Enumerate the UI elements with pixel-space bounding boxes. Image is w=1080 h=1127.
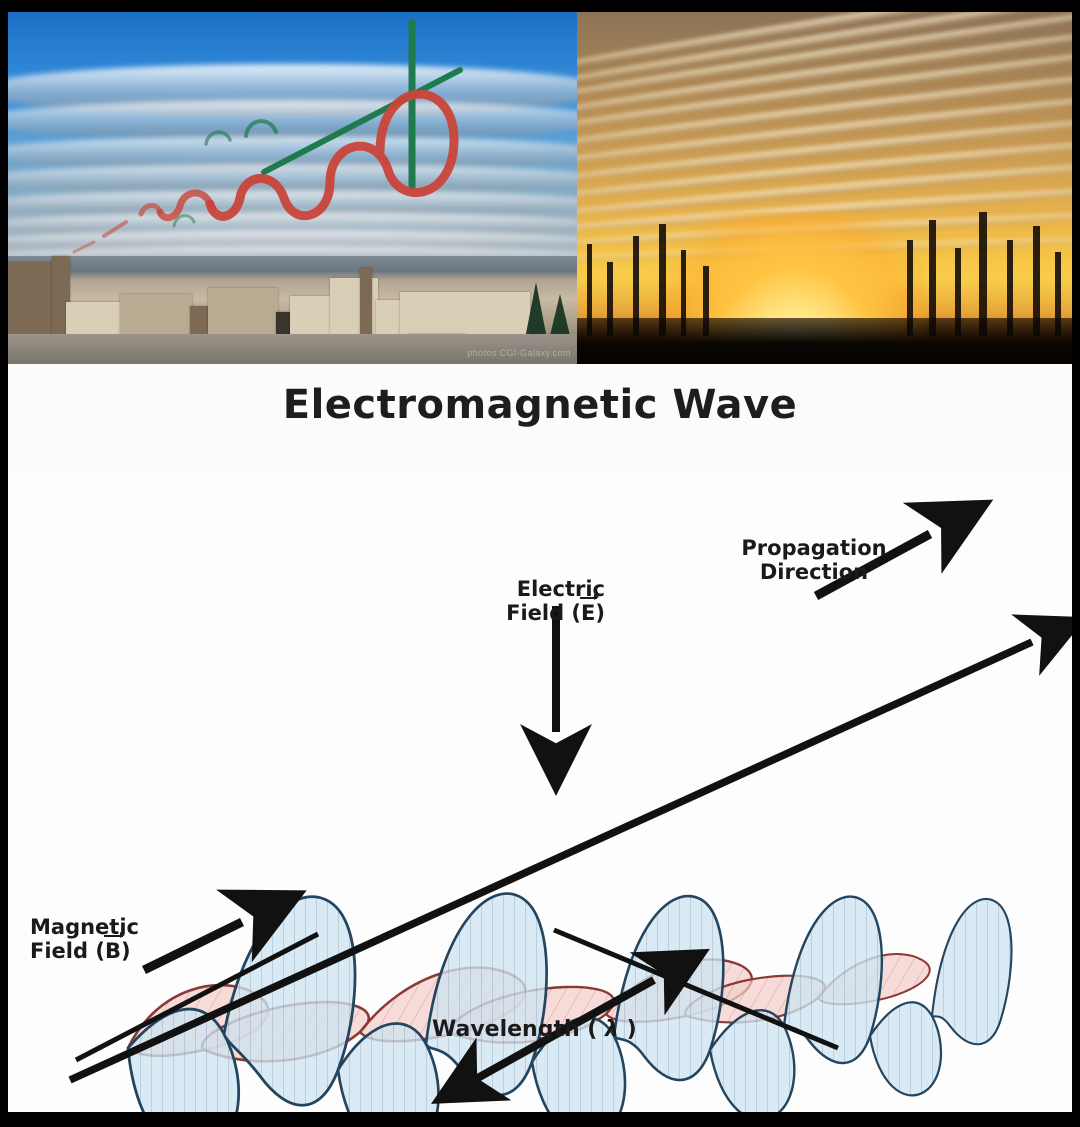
bare-tree [1033,226,1040,336]
building [360,268,372,336]
electric-field-label: Electric Field (E) [455,578,605,625]
building [400,292,530,336]
electric-field-label-line2-suffix: ) [595,601,605,625]
bare-tree [955,248,961,336]
screenshot-root: photos CGI-Galaxy.com [0,0,1080,1127]
magnetic-field-label: Magnetic Field (B) [30,916,190,963]
bare-tree [1055,252,1061,336]
sunset-striated-clouds-photo [577,12,1072,364]
bare-tree [607,262,613,336]
electric-field-label-line2-prefix: Field ( [506,601,581,625]
propagation-direction-label: Propagation Direction [724,537,904,584]
propagation-label-line1: Propagation [741,536,886,560]
bare-tree [633,236,639,336]
magnetic-field-label-line2-suffix: ) [121,939,131,963]
bare-tree [703,266,709,336]
bare-tree [929,220,936,336]
photo-watermark: photos CGI-Galaxy.com [467,348,571,358]
cloud-helix-photo: photos CGI-Galaxy.com [8,12,577,364]
electromagnetic-wave-diagram: Electric Field (E) Propagation Direction… [8,474,1072,1112]
building [120,294,192,336]
title-band: Electromagnetic Wave [8,364,1072,474]
wavelength-label: Wavelength ( λ ) [432,1018,637,1043]
wavelength-lambda-symbol: λ [605,1017,619,1042]
magnetic-field-vector-symbol: B [105,940,121,964]
photo-strip: photos CGI-Galaxy.com [8,12,1072,364]
bare-tree [1007,240,1013,336]
building [208,288,278,336]
magnetic-field-label-line2-prefix: Field ( [30,939,105,963]
bare-tree [979,212,987,336]
building [290,296,334,336]
bare-tree [587,244,592,336]
building [66,302,122,336]
electric-field-vector-symbol: E [581,602,595,626]
bare-tree [907,240,913,336]
bare-tree [681,250,686,336]
wavelength-label-prefix: Wavelength ( [432,1017,605,1042]
bare-tree [659,224,666,336]
propagation-label-line2: Direction [760,560,868,584]
page-title: Electromagnetic Wave [8,382,1072,428]
wavelength-label-suffix: ) [619,1017,637,1042]
building [376,300,402,336]
horizon-silhouette [577,318,1072,364]
bottom-black-band [0,1112,1080,1127]
building [8,262,54,336]
